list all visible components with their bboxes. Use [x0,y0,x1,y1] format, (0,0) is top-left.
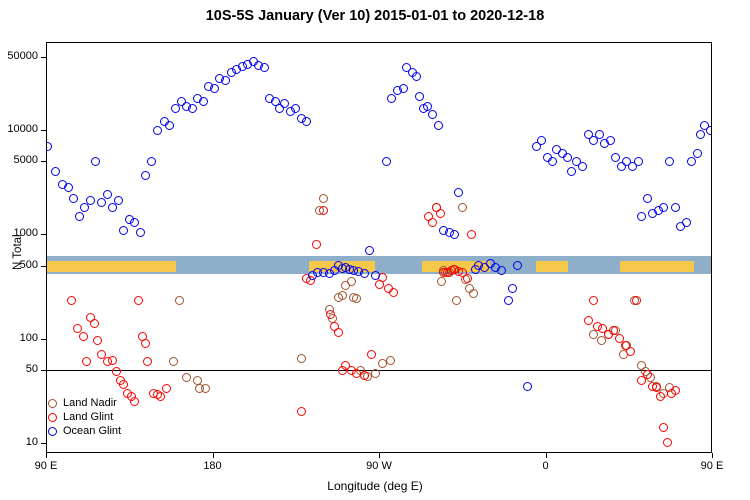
x-tick-label: 90 E [16,460,76,472]
legend-marker-icon [48,427,57,436]
y-tick-label: 10 [0,436,38,448]
x-tick-label: 180 [183,460,243,472]
y-tick-mark [41,370,46,371]
y-tick-label: 10000 [0,123,38,135]
legend-marker-icon [48,399,57,408]
legend-marker-icon [48,413,57,422]
x-tick-mark [379,453,380,458]
y-tick-label: 500 [0,259,38,271]
y-tick-mark [41,130,46,131]
plot-frame [46,42,712,453]
x-tick-mark [712,453,713,458]
plot-area [46,42,712,453]
legend-label: Land Glint [63,410,113,424]
x-tick-mark [46,453,47,458]
x-tick-label: 90 E [682,460,742,472]
y-tick-label: 5000 [0,154,38,166]
x-tick-mark [213,453,214,458]
y-tick-mark [41,266,46,267]
y-tick-mark [41,57,46,58]
legend: Land NadirLand GlintOcean Glint [48,396,121,438]
legend-label: Land Nadir [63,396,117,410]
legend-label: Ocean Glint [63,424,121,438]
y-tick-label: 100 [0,332,38,344]
x-axis-title: Longitude (deg E) [0,479,750,493]
x-tick-label: 90 W [349,460,409,472]
y-tick-mark [41,234,46,235]
legend-item[interactable]: Land Nadir [48,396,121,410]
y-tick-label: 50 [0,363,38,375]
x-tick-mark [546,453,547,458]
page-title: 10S-5S January (Ver 10) 2015-01-01 to 20… [0,8,750,24]
y-tick-mark [41,161,46,162]
x-tick-label: 0 [516,460,576,472]
legend-item[interactable]: Land Glint [48,410,121,424]
y-tick-label: 50000 [0,50,38,62]
y-tick-mark [41,339,46,340]
y-tick-label: 1000 [0,227,38,239]
legend-item[interactable]: Ocean Glint [48,424,121,438]
y-tick-mark [41,443,46,444]
